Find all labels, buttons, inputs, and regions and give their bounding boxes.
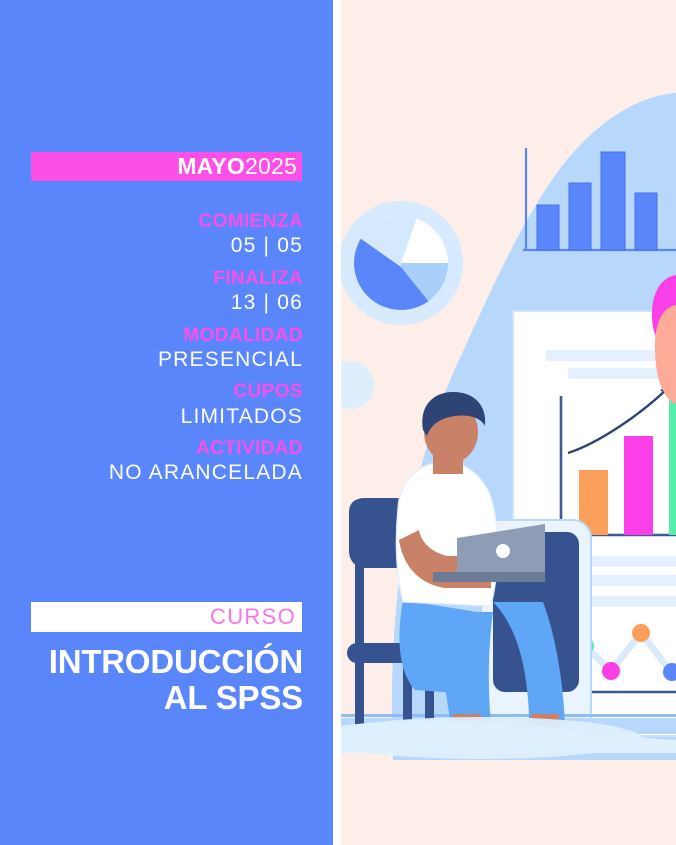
- line-point-orange: [632, 624, 650, 642]
- bar-3: [601, 152, 625, 250]
- course-details-list: COMIENZA 05 | 05 FINALIZA 13 | 06 MODALI…: [0, 210, 303, 494]
- date-bar: MAYO2025: [31, 152, 302, 181]
- detail-row-cupos: CUPOS LIMITADOS: [0, 380, 303, 429]
- page-title-line-2: AL SPSS: [0, 680, 303, 716]
- detail-label-finaliza: FINALIZA: [0, 267, 303, 290]
- detail-label-comienza: COMIENZA: [0, 210, 303, 233]
- detail-row-actividad: ACTIVIDAD NO ARANCELADA: [0, 437, 303, 486]
- floor-band-edge: [341, 714, 676, 717]
- card-bar-magenta: [624, 436, 653, 535]
- detail-row-comienza: COMIENZA 05 | 05: [0, 210, 303, 259]
- page-title: INTRODUCCIÓN AL SPSS: [0, 644, 303, 715]
- detail-label-cupos: CUPOS: [0, 380, 303, 403]
- detail-label-modalidad: MODALIDAD: [0, 324, 303, 347]
- card-text-line-1: [546, 350, 661, 361]
- detail-value-modalidad: PRESENCIAL: [0, 347, 303, 373]
- detail-value-actividad: NO ARANCELADA: [0, 460, 303, 486]
- illustration-artwork: [341, 0, 676, 845]
- detail-label-actividad: ACTIVIDAD: [0, 437, 303, 460]
- poster-canvas: MAYO2025 COMIENZA 05 | 05 FINALIZA 13 | …: [0, 0, 676, 845]
- illustration-panel: [341, 0, 676, 845]
- detail-row-modalidad: MODALIDAD PRESENCIAL: [0, 324, 303, 373]
- laptop-base: [433, 572, 545, 582]
- date-month: MAYO: [177, 155, 245, 178]
- chair-leg-left: [355, 560, 364, 750]
- detail-value-cupos: LIMITADOS: [0, 404, 303, 430]
- card-bar-green: [669, 392, 676, 535]
- bar-4: [635, 193, 657, 250]
- info-panel: MAYO2025 COMIENZA 05 | 05 FINALIZA 13 | …: [0, 0, 333, 845]
- date-year: 2025: [245, 155, 297, 178]
- detail-value-finaliza: 13 | 06: [0, 290, 303, 316]
- line-point-magenta: [602, 662, 620, 680]
- page-title-line-1: INTRODUCCIÓN: [49, 643, 303, 680]
- pie-chart: [341, 201, 463, 325]
- curso-bar: CURSO: [31, 602, 302, 632]
- curso-kicker: CURSO: [210, 606, 296, 628]
- bar-2: [569, 183, 591, 250]
- bar-1: [537, 205, 559, 250]
- detail-row-finaliza: FINALIZA 13 | 06: [0, 267, 303, 316]
- laptop-logo: [496, 544, 510, 558]
- detail-value-comienza: 05 | 05: [0, 233, 303, 259]
